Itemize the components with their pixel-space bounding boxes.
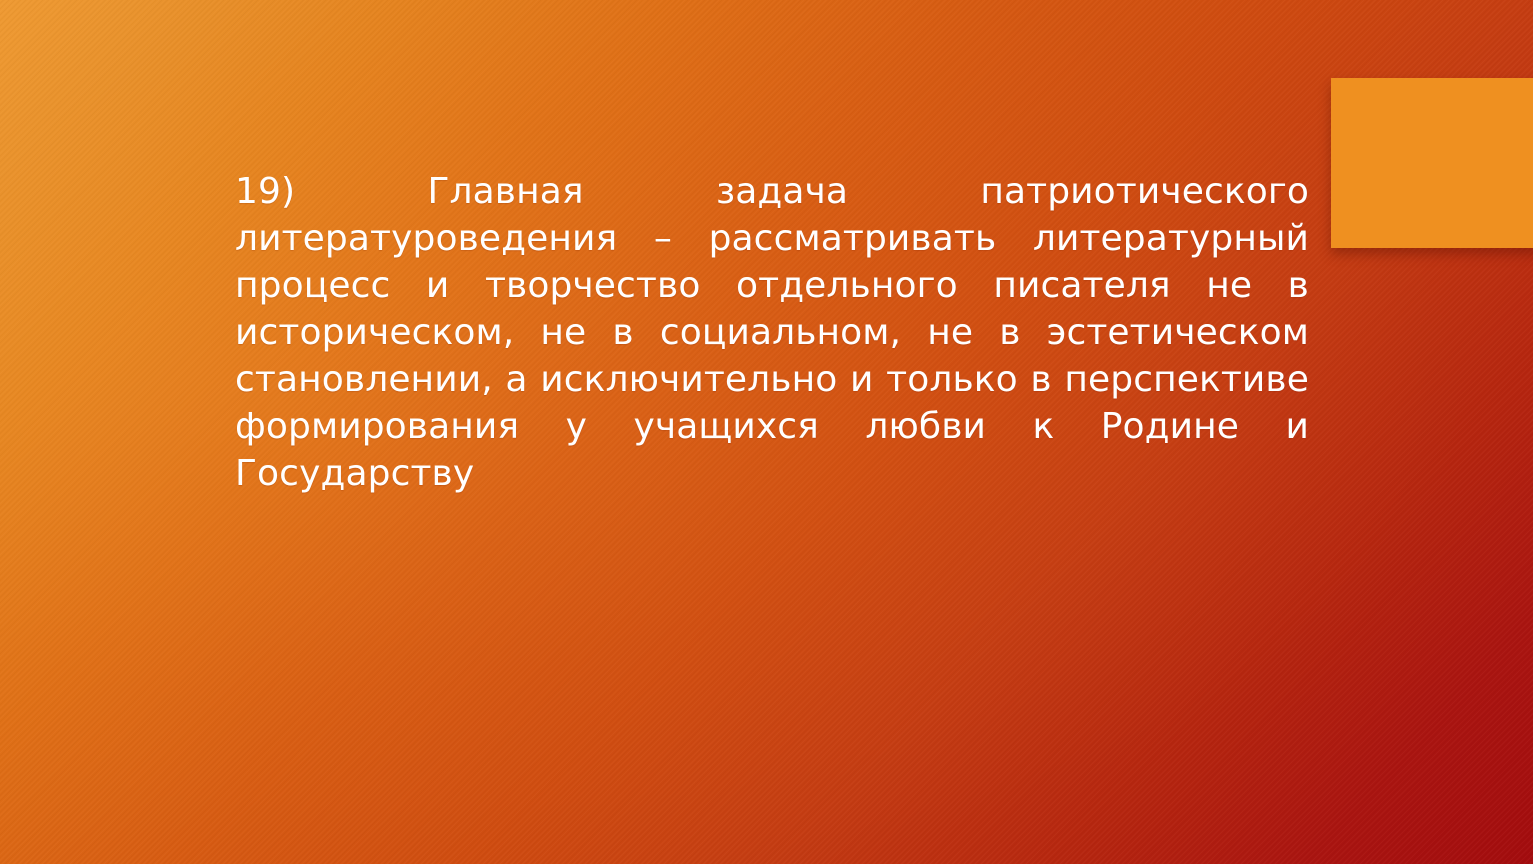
- slide: 19) Главная задача патриотического литер…: [0, 0, 1533, 864]
- slide-body-text: 19) Главная задача патриотического литер…: [235, 168, 1309, 497]
- accent-rectangle: [1331, 78, 1533, 248]
